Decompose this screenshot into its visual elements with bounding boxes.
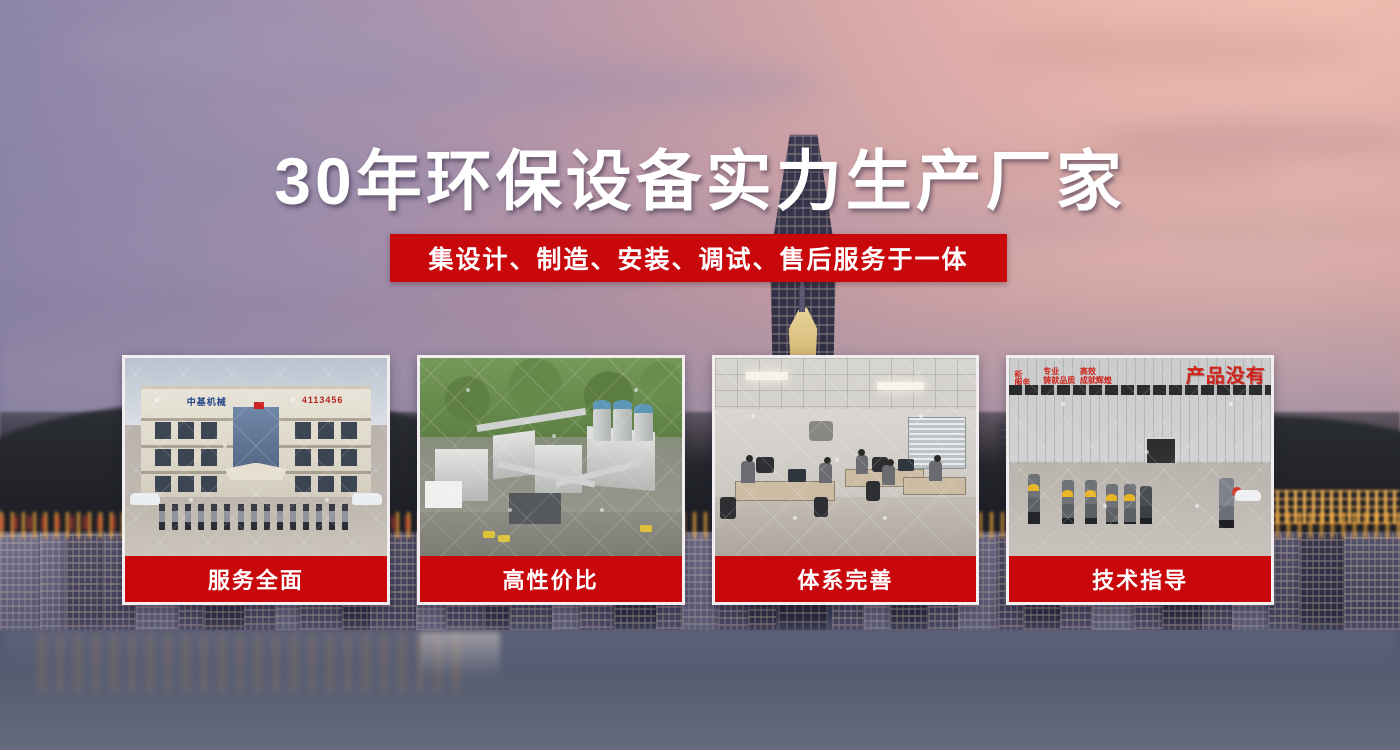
feature-card[interactable]: 体系完善 (712, 355, 980, 605)
card-caption: 服务全面 (125, 556, 387, 602)
building-phone: 4113456 (302, 395, 344, 405)
card-photo (420, 358, 682, 556)
card-caption: 技术指导 (1009, 556, 1271, 602)
factory-signage: 产品没有 (1186, 361, 1266, 388)
card-photo: 中基机械 4113456 (125, 358, 387, 556)
page-title: 30年环保设备实力生产厂家 (0, 128, 1400, 224)
water-streak (420, 632, 500, 678)
building-signage: 中基机械 (187, 395, 227, 408)
feature-card[interactable]: 产品没有 新服务 专业铸就品质 高效成就辉煌 (1006, 355, 1274, 605)
cloud-band (980, 28, 1360, 72)
subtitle-text: 集设计、制造、安装、调试、售后服务于一体 (428, 240, 968, 276)
river-water (0, 630, 1400, 750)
photo-office-interior (715, 358, 977, 556)
feature-card-row: 中基机械 4113456 (122, 355, 1274, 605)
photo-workers-factory: 产品没有 新服务 专业铸就品质 高效成就辉煌 (1009, 358, 1271, 556)
photo-office-building: 中基机械 4113456 (125, 358, 387, 556)
card-caption: 体系完善 (715, 556, 977, 602)
card-photo: 产品没有 新服务 专业铸就品质 高效成就辉煌 (1009, 358, 1271, 556)
feature-card[interactable]: 高性价比 (417, 355, 685, 605)
card-photo (715, 358, 977, 556)
feature-card[interactable]: 中基机械 4113456 (122, 355, 390, 605)
cloud-band (300, 62, 820, 108)
photo-aerial-plant (420, 358, 682, 556)
subtitle-banner: 集设计、制造、安装、调试、售后服务于一体 (390, 234, 1007, 282)
card-caption: 高性价比 (420, 556, 682, 602)
water-reflections (40, 634, 460, 692)
